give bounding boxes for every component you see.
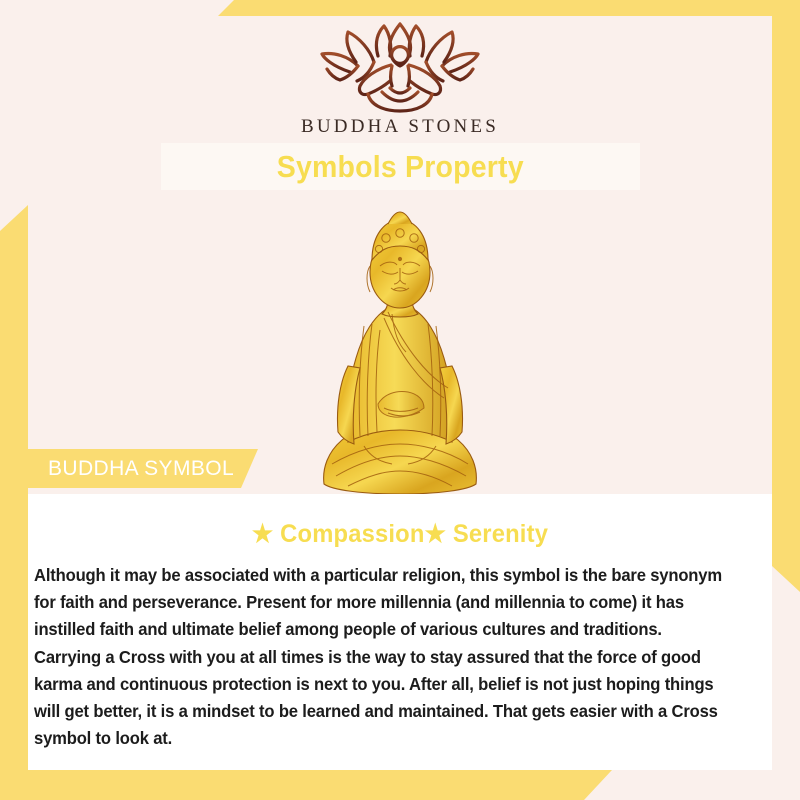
decor-band-right bbox=[772, 0, 800, 592]
decor-band-bottom bbox=[0, 770, 612, 800]
section-ribbon: BUDDHA SYMBOL bbox=[28, 449, 258, 488]
lotus-meditation-figure-icon bbox=[312, 22, 488, 114]
poster-canvas: BUDDHA STONES Symbols Property bbox=[28, 16, 772, 770]
content-heading: ★ Compassion★ Serenity bbox=[47, 519, 754, 549]
section-ribbon-label: BUDDHA SYMBOL bbox=[48, 457, 234, 481]
poster-page: BUDDHA STONES Symbols Property bbox=[0, 0, 800, 800]
content-card: ★ Compassion★ Serenity Although it may b… bbox=[28, 494, 772, 770]
brand-name: BUDDHA STONES bbox=[301, 116, 499, 138]
title-band: Symbols Property bbox=[161, 143, 640, 190]
seated-golden-buddha-statue-icon bbox=[318, 206, 482, 498]
page-title: Symbols Property bbox=[277, 149, 524, 185]
decor-band-top bbox=[218, 0, 800, 16]
decor-band-left bbox=[0, 205, 28, 800]
content-paragraph: Although it may be associated with a par… bbox=[34, 562, 733, 753]
brand-logo: BUDDHA STONES bbox=[28, 22, 772, 138]
